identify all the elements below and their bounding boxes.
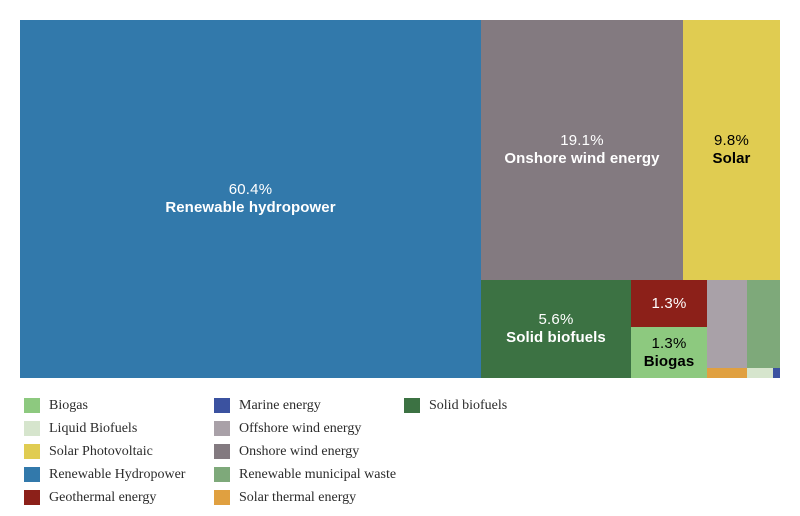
legend-item-solar-thermal-energy[interactable]: Solar thermal energy [214,486,404,509]
tile-value: 1.3% [652,295,687,313]
treemap-tile-offshore-wind-energy[interactable] [707,280,747,368]
legend-swatch-icon [24,398,40,413]
legend-item-solar-photovoltaic[interactable]: Solar Photovoltaic [24,440,214,463]
treemap-tile-solar[interactable]: 9.8% Solar [683,20,780,280]
treemap-tile-renewable-municipal-waste[interactable] [747,280,780,368]
legend-swatch-icon [214,444,230,459]
treemap-plot-area: 60.4% Renewable hydropower 19.1% Onshore… [20,20,780,378]
treemap-tile-solid-biofuels[interactable]: 5.6% Solid biofuels [481,280,631,378]
tile-value: 9.8% [714,132,749,150]
tile-value: 1.3% [652,335,687,353]
tile-label: Onshore wind energy [504,150,659,168]
treemap-tile-marine-energy[interactable] [773,368,780,378]
legend-item-label: Marine energy [239,398,321,414]
legend-item-label: Solid biofuels [429,398,507,414]
treemap-chart: 60.4% Renewable hydropower 19.1% Onshore… [0,0,800,516]
legend-swatch-icon [214,467,230,482]
legend-swatch-icon [404,398,420,413]
tile-label: Biogas [644,353,695,371]
treemap-tile-biogas[interactable]: 1.3% Biogas [631,327,707,378]
legend-item-offshore-wind-energy[interactable]: Offshore wind energy [214,417,404,440]
treemap-tile-solar-thermal-energy[interactable] [707,368,747,378]
tile-value: 5.6% [539,311,574,329]
tile-label: Solid biofuels [506,329,606,347]
legend-item-onshore-wind-energy[interactable]: Onshore wind energy [214,440,404,463]
legend-swatch-icon [24,467,40,482]
legend-item-renewable-hydropower[interactable]: Renewable Hydropower [24,463,214,486]
legend-item-label: Biogas [49,398,88,414]
legend-item-biogas[interactable]: Biogas [24,394,214,417]
legend-item-geothermal-energy[interactable]: Geothermal energy [24,486,214,509]
legend-swatch-icon [24,421,40,436]
legend-item-label: Geothermal energy [49,490,156,506]
legend-item-label: Renewable municipal waste [239,467,396,483]
legend-item-marine-energy[interactable]: Marine energy [214,394,404,417]
legend-item-label: Offshore wind energy [239,421,361,437]
tile-value: 60.4% [229,181,273,199]
legend-item-renewable-municipal-waste[interactable]: Renewable municipal waste [214,463,404,486]
legend-item-label: Onshore wind energy [239,444,359,460]
legend-swatch-icon [24,490,40,505]
legend-swatch-icon [214,421,230,436]
treemap-tile-liquid-biofuels[interactable] [747,368,773,378]
legend-item-liquid-biofuels[interactable]: Liquid Biofuels [24,417,214,440]
legend-item-label: Renewable Hydropower [49,467,185,483]
legend-item-label: Solar thermal energy [239,490,356,506]
tile-label: Solar [712,150,750,168]
legend-swatch-icon [24,444,40,459]
treemap-tile-geothermal-energy[interactable]: 1.3% [631,280,707,327]
legend-item-label: Liquid Biofuels [49,421,137,437]
legend-item-solid-biofuels[interactable]: Solid biofuels [404,394,604,417]
legend-swatch-icon [214,398,230,413]
treemap-tile-onshore-wind-energy[interactable]: 19.1% Onshore wind energy [481,20,683,280]
legend-item-label: Solar Photovoltaic [49,444,153,460]
treemap-tile-renewable-hydropower[interactable]: 60.4% Renewable hydropower [20,20,481,378]
chart-legend: Biogas Liquid Biofuels Solar Photovoltai… [24,394,780,510]
tile-label: Renewable hydropower [165,199,335,217]
legend-swatch-icon [214,490,230,505]
tile-value: 19.1% [560,132,604,150]
